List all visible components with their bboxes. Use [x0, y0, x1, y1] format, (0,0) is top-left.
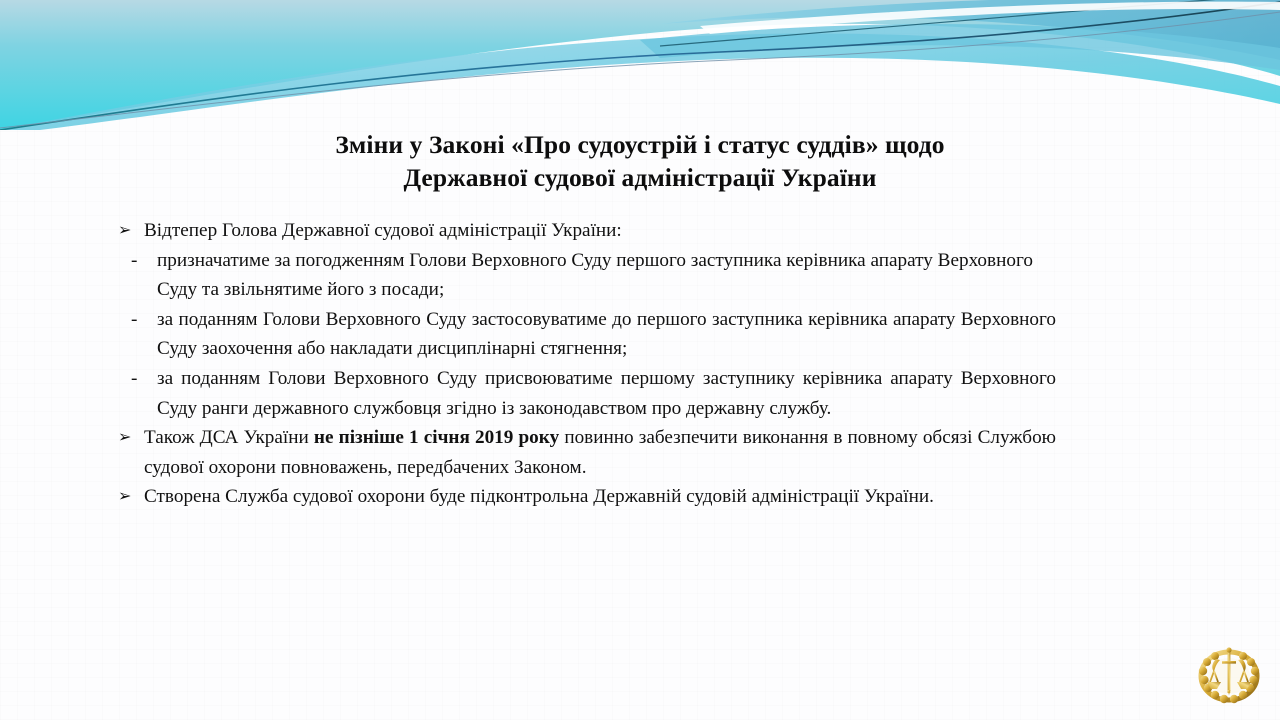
bullet-item: ➢ Створена Служба судової охорони буде п…	[118, 482, 1056, 512]
dash-bullet-icon: -	[128, 246, 157, 276]
dash-bullet-icon: -	[128, 305, 157, 335]
title-line-1: Зміни у Законі «Про судоустрій і статус …	[120, 128, 1160, 161]
bullet-text: за поданням Голови Верховного Суду присв…	[157, 364, 1056, 423]
dash-bullet-icon: -	[128, 364, 157, 394]
bullet-text-rich: Також ДСА України не пізніше 1 січня 201…	[144, 423, 1056, 482]
slide-body: ➢ Відтепер Голова Державної судової адмі…	[118, 216, 1056, 512]
bullet-item: - за поданням Голови Верховного Суду при…	[128, 364, 1056, 423]
bullet-text: призначатиме за погодженням Голови Верхо…	[157, 246, 1056, 305]
title-line-2: Державної судової адміністрації України	[120, 161, 1160, 194]
arrow-bullet-icon: ➢	[118, 216, 144, 246]
bullet-text: Відтепер Голова Державної судової адміні…	[144, 216, 1056, 246]
bullet-text-bold-deadline: не пізніше 1 січня 2019 року	[314, 427, 559, 448]
presentation-slide: Зміни у Законі «Про судоустрій і статус …	[0, 0, 1280, 720]
header-wave-decoration	[0, 0, 1280, 130]
bullet-item: ➢ Відтепер Голова Державної судової адмі…	[118, 216, 1056, 246]
arrow-bullet-icon: ➢	[118, 482, 144, 512]
bullet-item: ➢ Також ДСА України не пізніше 1 січня 2…	[118, 423, 1056, 482]
slide-title: Зміни у Законі «Про судоустрій і статус …	[120, 128, 1160, 194]
bullet-text: за поданням Голови Верховного Суду засто…	[157, 305, 1056, 364]
bullet-text-before-bold: Також ДСА України	[144, 427, 314, 448]
ukrainian-judiciary-emblem-icon	[1196, 641, 1262, 707]
bullet-item: - призначатиме за погодженням Голови Вер…	[128, 246, 1056, 305]
arrow-bullet-icon: ➢	[118, 423, 144, 453]
bullet-item: - за поданням Голови Верховного Суду зас…	[128, 305, 1056, 364]
bullet-text: Створена Служба судової охорони буде під…	[144, 482, 1056, 512]
